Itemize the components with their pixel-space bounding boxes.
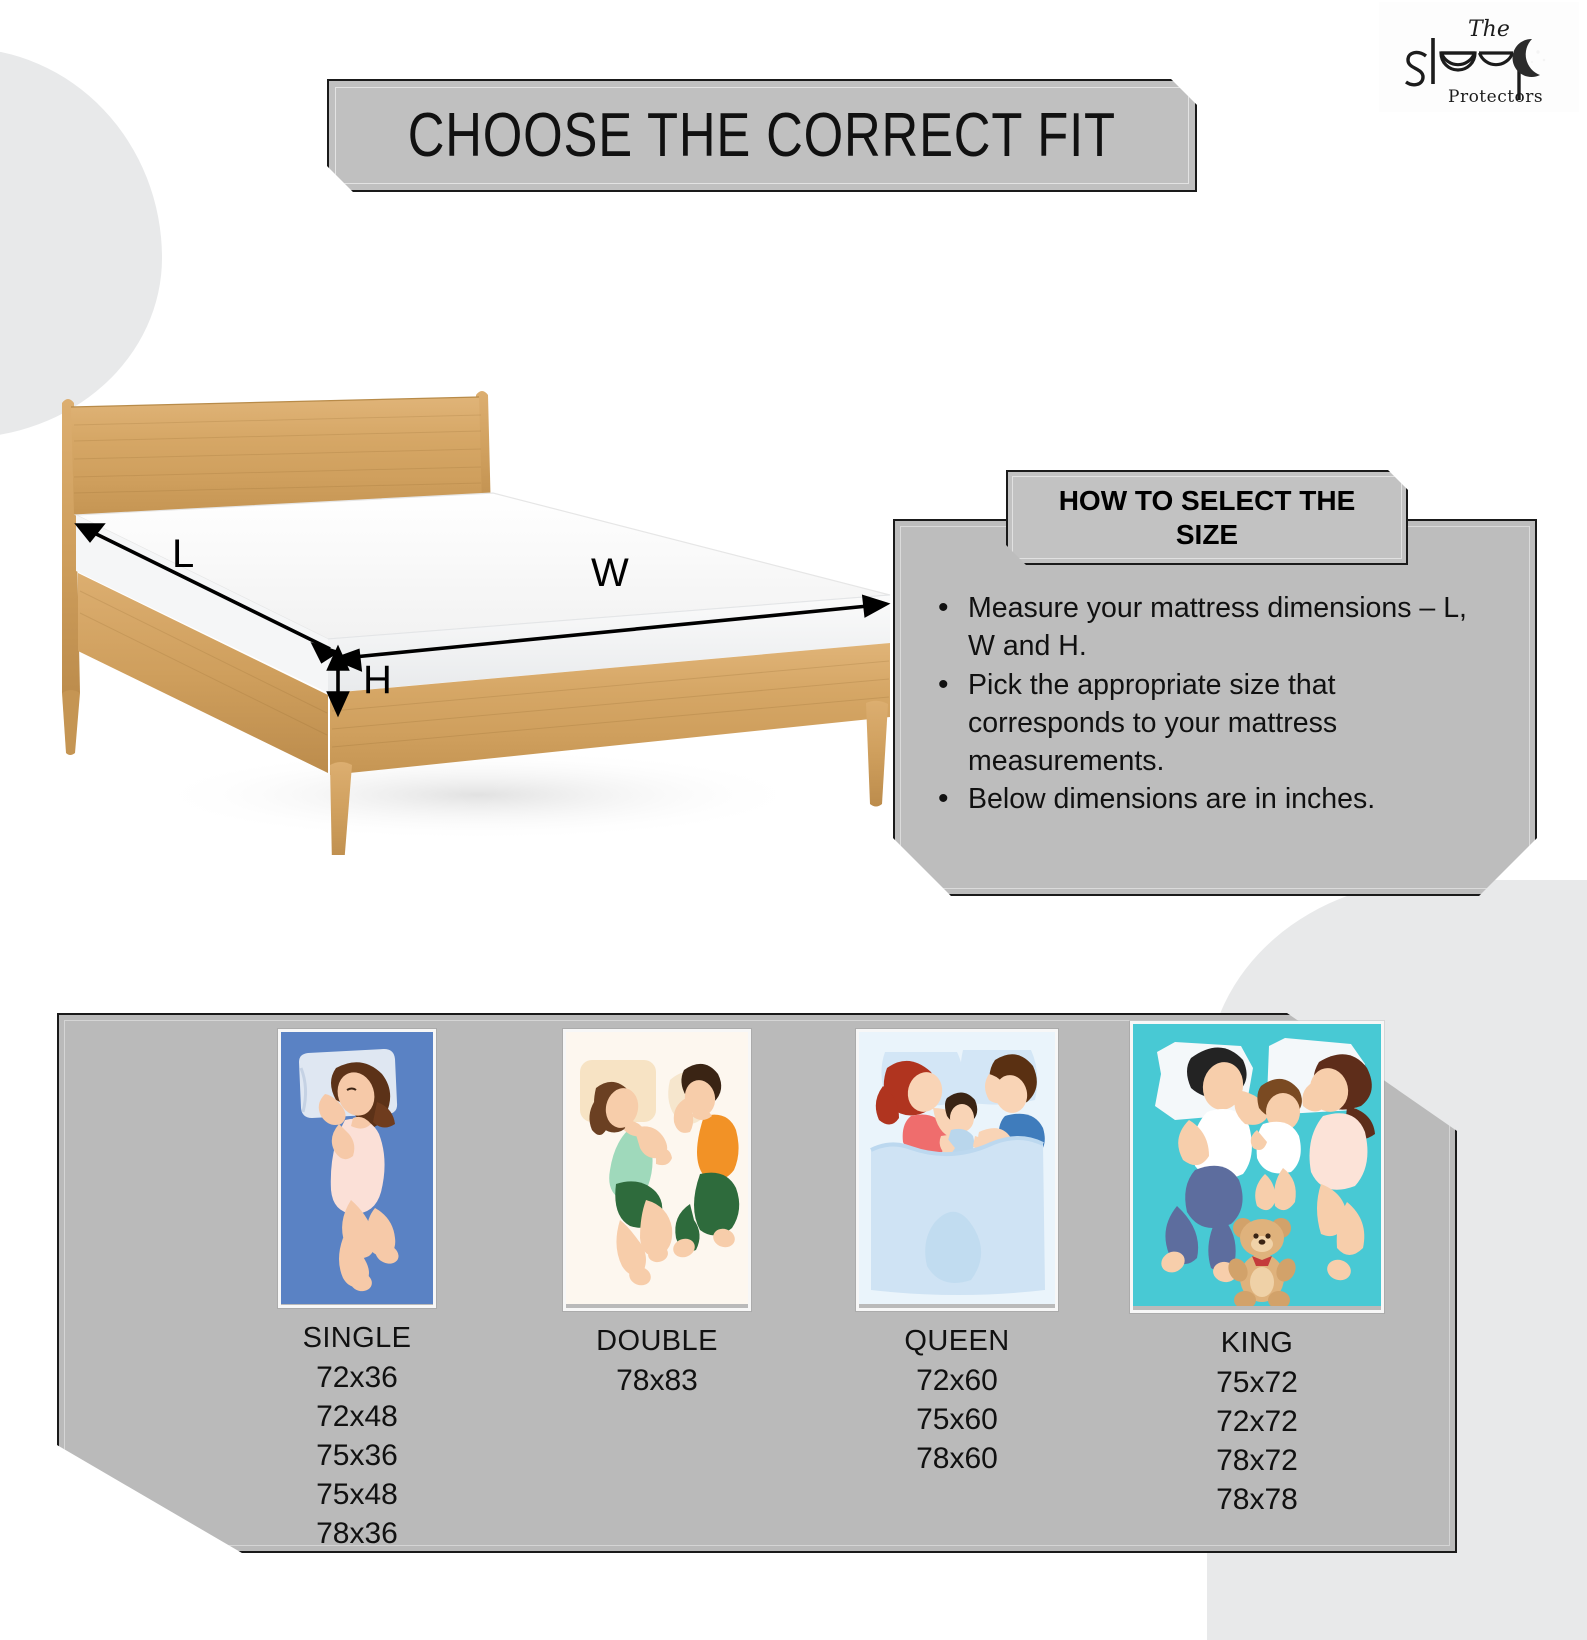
page-title-banner: CHOOSE THE CORRECT FIT: [327, 79, 1197, 192]
size-option-single[interactable]: SINGLE 72x36 72x48 75x36 75x48 78x36: [207, 1029, 507, 1553]
single-sleeper-image: [278, 1029, 436, 1308]
howto-bullet-item: Measure your mattress dimensions – L, W …: [930, 590, 1500, 666]
howto-bullet-item: Below dimensions are in inches.: [930, 781, 1500, 819]
dimension-value: 72x60: [916, 1361, 998, 1400]
howto-title: HOW TO SELECT THE SIZE: [1042, 484, 1372, 550]
dimension-value: 78x83: [616, 1361, 698, 1400]
dimension-value: 72x36: [316, 1358, 398, 1397]
mattress-sizes-row: SINGLE 72x36 72x48 75x36 75x48 78x36: [57, 1013, 1457, 1553]
dimension-label-length: L: [172, 532, 194, 577]
howto-bullet-list: Measure your mattress dimensions – L, W …: [930, 590, 1500, 820]
dimension-value: 78x72: [1216, 1441, 1298, 1480]
size-option-double[interactable]: DOUBLE 78x83: [507, 1029, 807, 1553]
howto-panel-header: HOW TO SELECT THE SIZE: [1006, 470, 1408, 565]
dimension-value: 75x60: [916, 1400, 998, 1439]
dimension-value: 78x60: [916, 1439, 998, 1478]
brand-logo: The Protectors: [1379, 2, 1579, 112]
dimension-value: 72x48: [316, 1397, 398, 1436]
sleep-protectors-logo-icon: The Protectors: [1386, 8, 1572, 106]
size-label: QUEEN: [904, 1325, 1009, 1358]
bed-illustration: [38, 375, 918, 855]
svg-text:Protectors: Protectors: [1448, 87, 1543, 106]
family-baby-blanket-image: [856, 1029, 1058, 1311]
dimension-value: 75x72: [1216, 1363, 1298, 1402]
svg-text:The: The: [1468, 17, 1510, 42]
size-dimensions: 72x60 75x60 78x60: [916, 1361, 998, 1478]
dimension-value: 78x36: [316, 1514, 398, 1553]
dimension-value: 72x72: [1216, 1402, 1298, 1441]
size-dimensions: 75x72 72x72 78x72 78x78: [1216, 1363, 1298, 1519]
couple-sleepers-image: [563, 1029, 751, 1311]
family-baby-teddy-image: [1130, 1021, 1384, 1313]
page-title: CHOOSE THE CORRECT FIT: [408, 100, 1116, 171]
dimension-value: 78x78: [1216, 1480, 1298, 1519]
size-option-queen[interactable]: QUEEN 72x60 75x60 78x60: [807, 1029, 1107, 1553]
size-option-king[interactable]: KING 75x72 72x72 78x72 78x78: [1107, 1021, 1407, 1553]
dimension-value: 75x36: [316, 1436, 398, 1475]
howto-bullet-item: Pick the appropriate size that correspon…: [930, 667, 1500, 781]
dimension-value: 75x48: [316, 1475, 398, 1514]
size-label: KING: [1221, 1327, 1294, 1360]
size-label: SINGLE: [303, 1322, 412, 1355]
size-label: DOUBLE: [596, 1325, 718, 1358]
size-dimensions: 78x83: [616, 1361, 698, 1400]
dimension-label-width: W: [591, 551, 629, 596]
size-dimensions: 72x36 72x48 75x36 75x48 78x36: [316, 1358, 398, 1553]
dimension-label-height: H: [363, 658, 392, 703]
